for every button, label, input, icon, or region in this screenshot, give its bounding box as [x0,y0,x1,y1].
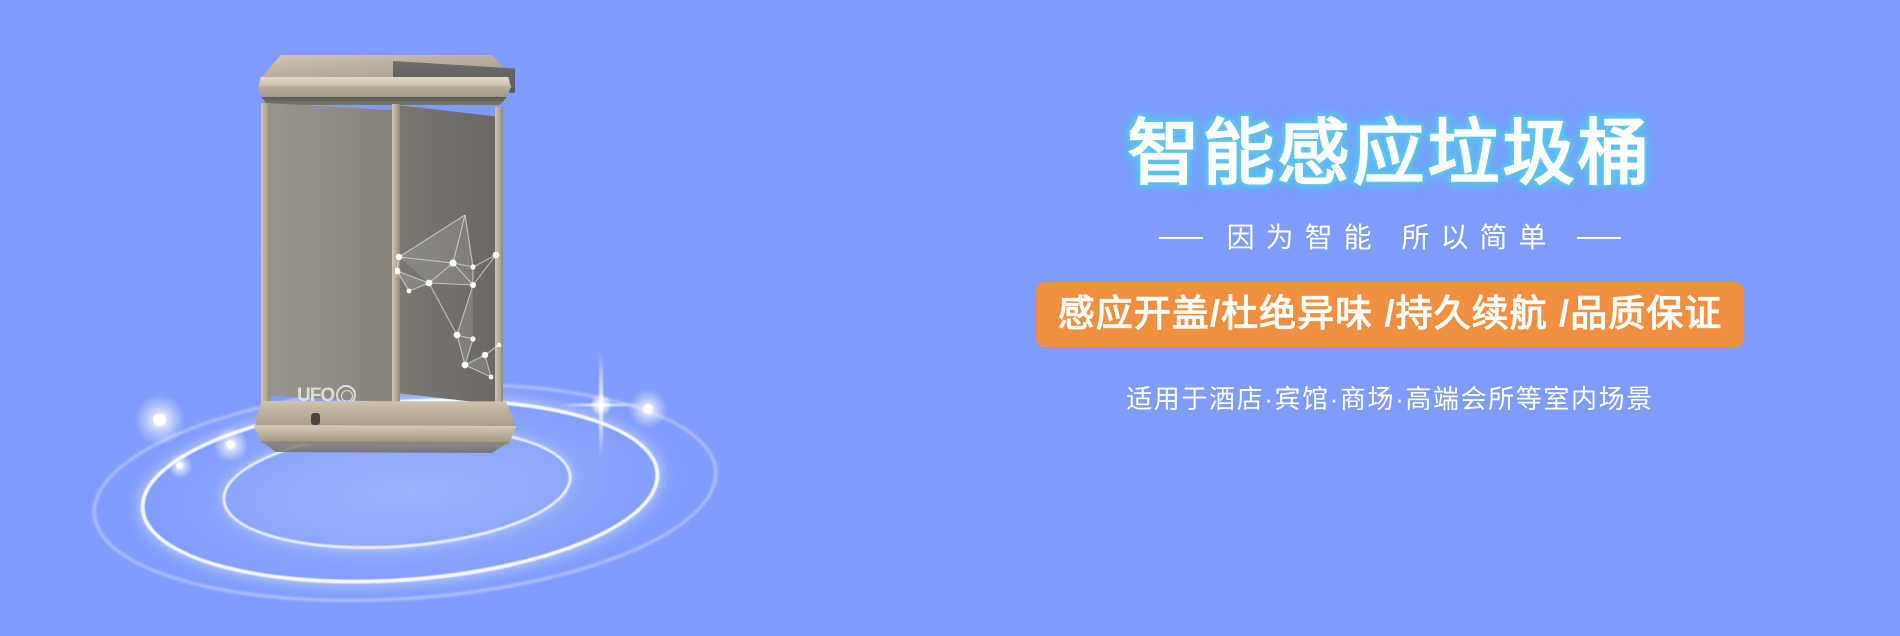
subline-dash-right [1577,237,1621,239]
subline-dash-left [1159,237,1203,239]
sparkle-icon [153,413,166,426]
promotional-banner: UFO 优 福 欧 环 保 UFO INTELLIGENT TECHNOLOGY… [0,0,1900,636]
sparkle-icon [226,440,235,449]
polygon-network-graphic [395,205,507,420]
product-scene: UFO 优 福 欧 环 保 UFO INTELLIGENT TECHNOLOGY [0,0,880,636]
bin-lid-shadow [261,97,507,105]
banner-headline: 智能感应垃圾桶 [1127,118,1652,190]
bin-edge-rail-left [261,103,270,405]
feature-badge: 感应开盖/杜绝异味 /持久续航 /品质保证 [1036,282,1744,347]
banner-copy-block: 智能感应垃圾桶 因为智能 所以简单 感应开盖/杜绝异味 /持久续航 /品质保证 … [880,0,1900,636]
subline-text: 因为智能 所以简单 [1223,224,1558,252]
sparkle-icon [176,462,183,469]
bin-base-shadow [261,441,509,453]
bin-lock-keyhole-icon [311,413,320,425]
banner-subline: 因为智能 所以简单 [1159,224,1622,252]
sparkle-icon [643,404,653,414]
trash-bin-product-image: UFO 优 福 欧 环 保 UFO INTELLIGENT TECHNOLOGY [255,55,525,455]
usage-scene-text: 适用于酒店·宾馆·商场·高端会所等室内场景 [1126,386,1654,412]
bin-body-front-face [265,103,399,403]
